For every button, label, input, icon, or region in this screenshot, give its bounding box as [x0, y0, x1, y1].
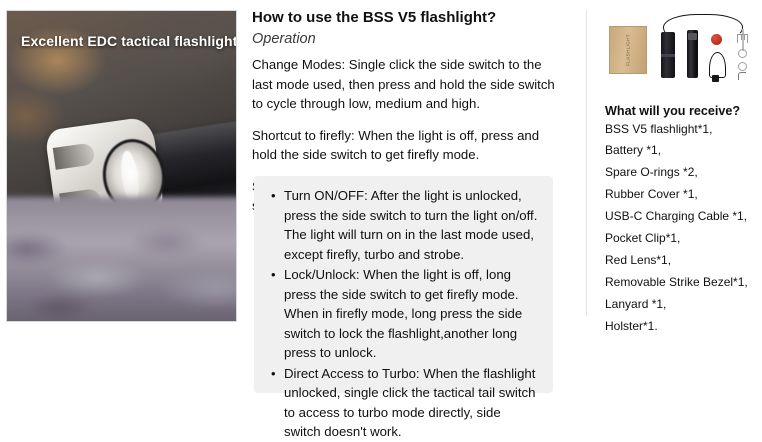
column-divider	[586, 10, 587, 316]
flashlight-icon	[687, 30, 698, 78]
list-item: Red Lens*1,	[605, 249, 755, 271]
list-item: Lanyard *1,	[605, 293, 755, 315]
strike-bezel-icon	[737, 34, 748, 43]
list-item: USB-C Charging Cable *1,	[605, 205, 755, 227]
list-item: Turn ON/OFF: After the light is unlocked…	[284, 186, 539, 264]
red-lens-icon	[711, 34, 722, 45]
lanyard-icon	[663, 14, 743, 36]
hero-product-photo: Excellent EDC tactical flashlight	[6, 10, 237, 322]
list-item: Spare O-rings *2,	[605, 161, 755, 183]
list-item: Removable Strike Bezel*1,	[605, 271, 755, 293]
operation-details-panel: Turn ON/OFF: After the light is unlocked…	[254, 176, 553, 393]
operation-bullet-list: Turn ON/OFF: After the light is unlocked…	[264, 186, 539, 442]
o-ring-icon	[738, 62, 747, 71]
package-contents-column: FLASHLIGHT What will you receive? BSS V5…	[605, 8, 755, 337]
list-item: Rubber Cover *1,	[605, 183, 755, 205]
rock-foreground-shape	[6, 197, 237, 322]
kit-contents-photo: FLASHLIGHT	[605, 8, 755, 84]
page-title: How to use the BSS V5 flashlight?	[252, 8, 560, 27]
holster-icon	[661, 32, 675, 78]
list-item: Lock/Unlock: When the light is off, long…	[284, 265, 539, 363]
pocket-clip-icon	[738, 72, 746, 80]
hero-caption: Excellent EDC tactical flashlight	[21, 33, 237, 49]
product-detail-page: Excellent EDC tactical flashlight How to…	[0, 0, 762, 409]
list-item: Battery *1,	[605, 139, 755, 161]
list-item: Pocket Clip*1,	[605, 227, 755, 249]
section-subtitle: Operation	[252, 30, 560, 48]
packaging-box-icon: FLASHLIGHT	[609, 26, 647, 74]
list-item: Holster*1.	[605, 315, 755, 337]
paragraph-shortcut-firefly: Shortcut to firefly: When the light is o…	[252, 126, 560, 165]
paragraph-change-modes: Change Modes: Single click the side swit…	[252, 55, 560, 114]
o-ring-icon	[738, 49, 747, 58]
package-contents-heading: What will you receive?	[605, 103, 755, 119]
packaging-box-label: FLASHLIGHT	[626, 34, 631, 66]
list-item: BSS V5 flashlight*1,	[605, 120, 755, 139]
usb-cable-icon	[709, 52, 726, 78]
package-contents-list: BSS V5 flashlight*1, Battery *1, Spare O…	[605, 120, 755, 337]
list-item: Direct Access to Turbo: When the flashli…	[284, 364, 539, 442]
